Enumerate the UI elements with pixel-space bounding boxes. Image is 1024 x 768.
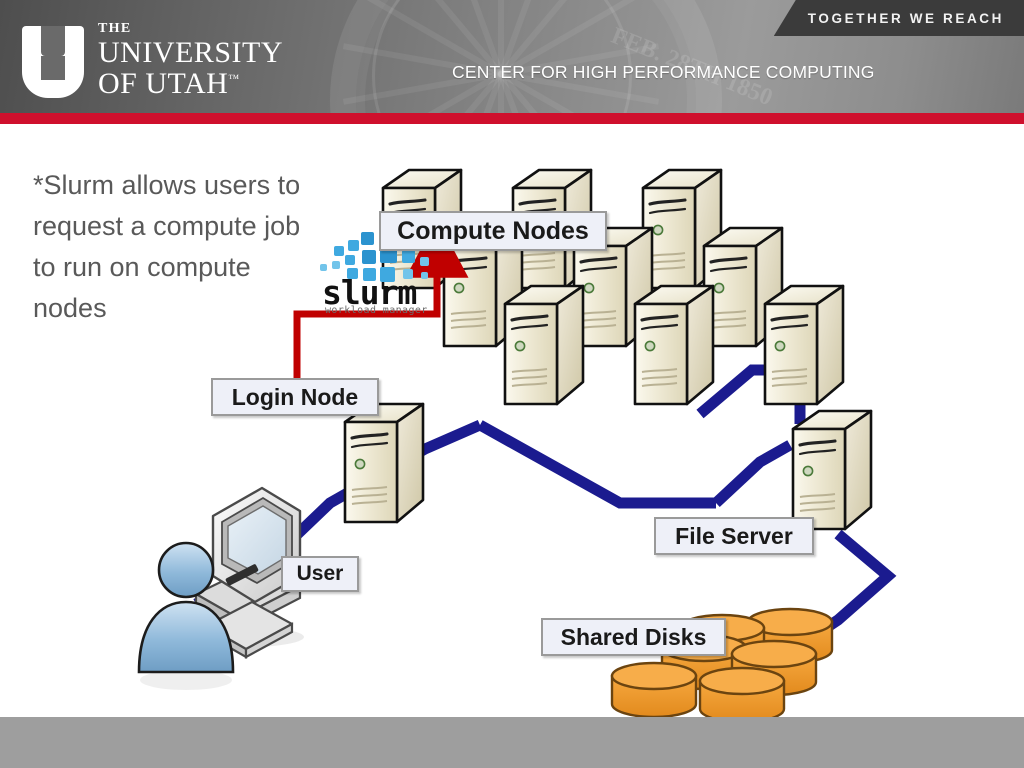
wordmark-line-the: THE — [98, 22, 283, 36]
header-red-rule — [0, 113, 1024, 124]
label-shared-disks: Shared Disks — [541, 618, 726, 656]
label-user: User — [281, 556, 359, 592]
cluster-diagram: slurm workload manager Compute Nodes Log… — [0, 124, 1024, 717]
label-login-node: Login Node — [211, 378, 379, 416]
user-workstation — [139, 488, 304, 690]
page-footer — [0, 717, 1024, 768]
wordmark-line-of-utah: OF UTAH™ — [98, 69, 283, 99]
wordmark-line-university: UNIVERSITY — [98, 38, 283, 68]
slurm-tagline: workload manager — [325, 305, 428, 316]
university-seal-watermark — [305, 0, 748, 113]
login-node-server — [345, 404, 423, 522]
university-logo[interactable]: THE UNIVERSITY OF UTAH™ — [22, 22, 283, 99]
university-wordmark: THE UNIVERSITY OF UTAH™ — [98, 22, 283, 99]
label-compute-nodes: Compute Nodes — [379, 211, 607, 251]
university-seal-inner-ring — [372, 0, 632, 113]
wordmark-utah-text: OF UTAH — [98, 67, 228, 100]
page-header: FEB. 28TH 1850 TOGETHER WE REACH THE UNI… — [0, 0, 1024, 113]
file-server-server — [793, 411, 871, 529]
compute-node-group-front — [505, 286, 843, 404]
block-u-icon — [22, 26, 84, 98]
label-file-server: File Server — [654, 517, 814, 555]
center-title: CENTER FOR HIGH PERFORMANCE COMPUTING — [452, 62, 875, 83]
together-we-reach-banner: TOGETHER WE REACH — [774, 0, 1024, 36]
trademark-mark: ™ — [228, 73, 239, 85]
banner-text: TOGETHER WE REACH — [808, 11, 1004, 26]
university-seal-spokes — [330, 0, 670, 113]
